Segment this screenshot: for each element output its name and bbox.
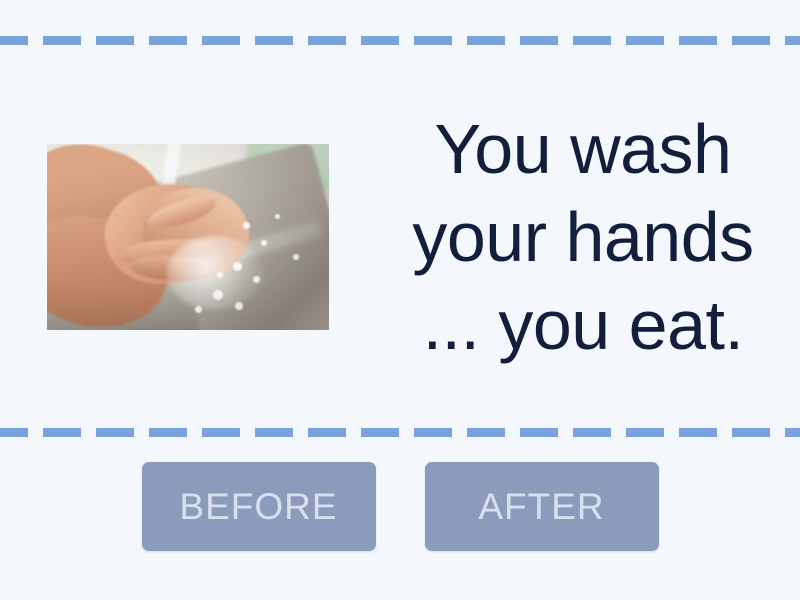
photo-vignette [47, 144, 329, 330]
hand-washing-photo [47, 144, 329, 330]
quiz-card-stage: You wash your hands ... you eat. BEFORE … [0, 0, 800, 600]
question-media-pane [0, 45, 376, 428]
answer-options: BEFORE AFTER [0, 462, 800, 551]
question-text: You wash your hands ... you eat. [403, 105, 763, 369]
question-card-body: You wash your hands ... you eat. [0, 45, 800, 428]
question-text-pane: You wash your hands ... you eat. [376, 45, 800, 428]
dashed-divider-bottom [0, 428, 800, 437]
answer-button-before[interactable]: BEFORE [142, 462, 376, 551]
dashed-divider-top [0, 36, 800, 45]
answer-button-after[interactable]: AFTER [425, 462, 659, 551]
